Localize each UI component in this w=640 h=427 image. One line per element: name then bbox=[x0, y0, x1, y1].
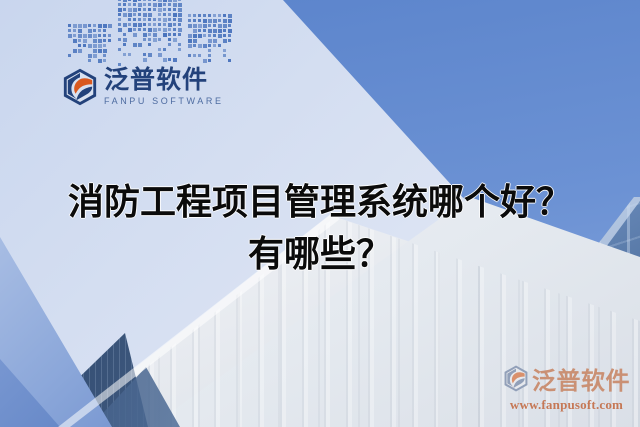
pixel-square bbox=[163, 3, 166, 6]
pixel-square bbox=[68, 34, 72, 38]
pixel-square bbox=[173, 38, 177, 42]
pixel-square bbox=[208, 29, 212, 33]
pixel-square bbox=[158, 48, 161, 51]
pixel-square bbox=[148, 3, 151, 6]
pixel-square bbox=[213, 34, 216, 37]
brand-name-en: FANPU SOFTWARE bbox=[104, 97, 224, 106]
pixel-square bbox=[133, 13, 136, 16]
pixel-square bbox=[208, 39, 212, 43]
pixel-square bbox=[213, 44, 216, 47]
pixel-square bbox=[188, 34, 192, 38]
pixel-square bbox=[78, 39, 81, 42]
pixel-square bbox=[118, 28, 122, 32]
pixel-square bbox=[198, 19, 201, 22]
pixel-square bbox=[78, 49, 82, 53]
pixel-square bbox=[73, 39, 77, 43]
pixel-square bbox=[123, 23, 127, 27]
pixel-square bbox=[168, 38, 171, 41]
pixel-square bbox=[193, 19, 196, 22]
pixel-square bbox=[163, 0, 167, 2]
pixel-square bbox=[98, 29, 101, 32]
pixel-square bbox=[163, 13, 166, 16]
pixel-square bbox=[148, 53, 152, 57]
pixel-square bbox=[103, 24, 107, 28]
pixel-square bbox=[168, 58, 171, 61]
pixel-square bbox=[138, 28, 141, 31]
pixel-square bbox=[198, 34, 202, 38]
pixel-square bbox=[93, 44, 97, 48]
pixel-square bbox=[178, 48, 181, 51]
pixel-square bbox=[73, 49, 77, 53]
pixel-square bbox=[228, 34, 231, 37]
pixel-square bbox=[168, 0, 172, 2]
pixel-square bbox=[213, 24, 216, 27]
pixel-square bbox=[73, 29, 76, 32]
pixel-square bbox=[83, 34, 87, 38]
pixel-square bbox=[118, 18, 121, 21]
pixel-square bbox=[148, 18, 151, 21]
pixel-square bbox=[123, 53, 126, 56]
brand-name-cn: 泛普软件 bbox=[104, 68, 224, 93]
pixel-square bbox=[178, 18, 182, 22]
pixel-square bbox=[228, 29, 232, 33]
pixel-square bbox=[143, 0, 146, 1]
pixel-square bbox=[88, 29, 92, 33]
pixel-square bbox=[208, 49, 211, 52]
pixel-square bbox=[203, 29, 206, 32]
pixel-square bbox=[218, 44, 221, 47]
pixel-square bbox=[228, 19, 232, 23]
pixel-square bbox=[128, 3, 131, 6]
pixel-square bbox=[158, 8, 162, 12]
pixel-square bbox=[68, 24, 71, 27]
pixel-square bbox=[148, 23, 151, 26]
pixel-square bbox=[148, 8, 151, 11]
pixel-square bbox=[158, 28, 161, 31]
pixel-square bbox=[98, 49, 102, 53]
pixel-square bbox=[108, 24, 112, 28]
pixel-square bbox=[83, 39, 87, 43]
pixel-square bbox=[148, 33, 151, 36]
pixel-square bbox=[93, 39, 97, 43]
pixel-square bbox=[173, 18, 176, 21]
pixel-square bbox=[158, 0, 162, 2]
pixel-square bbox=[103, 54, 106, 57]
pixel-square bbox=[228, 39, 231, 42]
pixel-square bbox=[143, 28, 146, 31]
page-title-line-2: 有哪些？ bbox=[0, 228, 640, 280]
pixel-square bbox=[118, 0, 121, 1]
pixel-square bbox=[143, 8, 146, 11]
pixel-square bbox=[198, 14, 201, 17]
pixel-square bbox=[223, 54, 226, 57]
fanpu-hexagon-logo-icon bbox=[62, 68, 98, 106]
brand-logo: 泛普软件 FANPU SOFTWARE bbox=[62, 68, 224, 106]
pixel-square bbox=[218, 19, 221, 22]
pixel-square bbox=[138, 13, 141, 16]
pixel-square bbox=[208, 44, 211, 47]
pixel-square bbox=[93, 34, 97, 38]
pixel-square bbox=[153, 3, 157, 7]
pixel-building-pattern bbox=[68, 0, 198, 72]
pixel-square bbox=[143, 13, 147, 17]
pixel-square bbox=[98, 59, 102, 63]
pixel-square bbox=[98, 44, 102, 48]
pixel-square bbox=[143, 18, 146, 21]
pixel-square bbox=[123, 38, 127, 42]
pixel-square bbox=[118, 38, 121, 41]
pixel-square bbox=[123, 8, 126, 11]
pixel-square bbox=[188, 14, 191, 17]
pixel-square bbox=[223, 24, 227, 28]
pixel-square bbox=[148, 13, 152, 17]
pixel-square bbox=[98, 39, 102, 43]
watermark-url: www.fanpusoft.com bbox=[510, 397, 623, 413]
pixel-square bbox=[213, 39, 217, 43]
pixel-square bbox=[83, 44, 86, 47]
pixel-square bbox=[88, 44, 92, 48]
pixel-square bbox=[198, 44, 202, 48]
pixel-square bbox=[168, 18, 171, 21]
pixel-square bbox=[173, 23, 176, 26]
pixel-square bbox=[133, 43, 137, 47]
pixel-square bbox=[218, 14, 221, 17]
pixel-square bbox=[128, 8, 132, 12]
pixel-square bbox=[188, 19, 191, 22]
pixel-square bbox=[223, 34, 226, 37]
pixel-square bbox=[228, 24, 231, 27]
promo-banner: 泛普软件 FANPU SOFTWARE 消防工程项目管理系统哪个好？ 有哪些？ … bbox=[0, 0, 640, 427]
pixel-square bbox=[168, 3, 171, 6]
pixel-square bbox=[208, 59, 211, 62]
pixel-square bbox=[218, 29, 222, 33]
pixel-square bbox=[88, 59, 91, 62]
pixel-square bbox=[203, 44, 207, 48]
pixel-square bbox=[223, 14, 226, 17]
pixel-square bbox=[123, 43, 126, 46]
pixel-square bbox=[108, 39, 111, 42]
pixel-square bbox=[208, 54, 211, 57]
pixel-square bbox=[213, 14, 216, 17]
pixel-square bbox=[128, 53, 131, 56]
pixel-square bbox=[228, 14, 232, 18]
pixel-square bbox=[93, 29, 96, 32]
pixel-square bbox=[153, 0, 156, 1]
pixel-square bbox=[223, 19, 227, 23]
pixel-square bbox=[73, 34, 76, 37]
pixel-square bbox=[148, 28, 152, 32]
pixel-square bbox=[203, 19, 207, 23]
pixel-square bbox=[163, 28, 167, 32]
pixel-square bbox=[178, 23, 181, 26]
pixel-square bbox=[138, 0, 141, 1]
pixel-square bbox=[78, 24, 82, 28]
pixel-square bbox=[133, 33, 137, 37]
pixel-square bbox=[143, 53, 146, 56]
pixel-square bbox=[223, 29, 226, 32]
pixel-square bbox=[148, 38, 151, 41]
pixel-square bbox=[158, 53, 162, 57]
pixel-square bbox=[153, 33, 157, 37]
pixel-square bbox=[163, 33, 167, 37]
pixel-square bbox=[208, 24, 211, 27]
pixel-square bbox=[88, 24, 91, 27]
pixel-square bbox=[193, 14, 196, 17]
pixel-square bbox=[173, 13, 177, 17]
pixel-square bbox=[168, 23, 172, 27]
pixel-square bbox=[138, 3, 142, 7]
pixel-square bbox=[78, 44, 81, 47]
pixel-square bbox=[98, 24, 102, 28]
pixel-square bbox=[173, 0, 177, 2]
pixel-square bbox=[178, 8, 182, 12]
pixel-square bbox=[138, 23, 142, 27]
pixel-square bbox=[143, 33, 147, 37]
pixel-square bbox=[88, 54, 92, 58]
pixel-square bbox=[133, 8, 137, 12]
pixel-square bbox=[148, 0, 151, 1]
pixel-square bbox=[118, 13, 121, 16]
pixel-square bbox=[103, 44, 106, 47]
pixel-square bbox=[128, 28, 132, 32]
pixel-square bbox=[168, 13, 171, 16]
pixel-square bbox=[168, 8, 171, 11]
pixel-square bbox=[158, 3, 162, 7]
pixel-square bbox=[158, 13, 161, 16]
pixel-square bbox=[223, 49, 226, 52]
pixel-square bbox=[193, 39, 197, 43]
pixel-square bbox=[178, 3, 182, 7]
pixel-square bbox=[153, 38, 157, 42]
pixel-square bbox=[188, 39, 192, 43]
pixel-square bbox=[163, 18, 167, 22]
pixel-square bbox=[138, 43, 142, 47]
pixel-square bbox=[118, 23, 121, 26]
pixel-square bbox=[173, 33, 176, 36]
pixel-square bbox=[193, 44, 196, 47]
pixel-square bbox=[78, 29, 82, 33]
pixel-square bbox=[178, 43, 181, 46]
pixel-square bbox=[103, 59, 106, 62]
pixel-square bbox=[178, 13, 182, 17]
pixel-square bbox=[208, 19, 212, 23]
pixel-square bbox=[168, 43, 171, 46]
watermark-brand-cn: 泛普软件 bbox=[532, 361, 630, 396]
pixel-square bbox=[148, 43, 151, 46]
pixel-square bbox=[173, 28, 176, 31]
pixel-square bbox=[193, 24, 197, 28]
pixel-square bbox=[223, 39, 227, 43]
pixel-square bbox=[213, 29, 217, 33]
page-title: 消防工程项目管理系统哪个好？ 有哪些？ bbox=[0, 176, 640, 280]
pixel-square bbox=[218, 34, 222, 38]
pixel-square bbox=[68, 29, 71, 32]
pixel-square bbox=[173, 8, 176, 11]
pixel-square bbox=[128, 13, 132, 17]
pixel-square bbox=[203, 59, 207, 63]
pixel-square bbox=[103, 49, 107, 53]
pixel-square bbox=[168, 33, 171, 36]
pixel-square bbox=[208, 14, 211, 17]
pixel-square bbox=[153, 8, 156, 11]
pixel-square bbox=[188, 24, 192, 28]
pixel-square bbox=[178, 0, 181, 1]
pixel-square bbox=[98, 34, 101, 37]
pixel-square bbox=[193, 54, 196, 57]
pixel-square bbox=[168, 28, 171, 31]
pixel-square bbox=[158, 18, 161, 21]
pixel-square bbox=[103, 34, 106, 37]
pixel-square bbox=[78, 34, 82, 38]
pixel-square bbox=[218, 24, 222, 28]
pixel-square bbox=[118, 3, 121, 6]
pixel-square bbox=[198, 54, 201, 57]
pixel-square bbox=[123, 33, 126, 36]
pixel-square bbox=[123, 3, 126, 6]
pixel-square bbox=[173, 3, 177, 7]
pixel-square bbox=[138, 18, 141, 21]
pixel-square bbox=[143, 23, 146, 26]
pixel-square bbox=[103, 39, 106, 42]
pixel-square bbox=[128, 23, 131, 26]
pixel-square bbox=[103, 29, 106, 32]
pixel-square bbox=[123, 0, 127, 2]
pixel-square bbox=[193, 34, 197, 38]
pixel-square bbox=[128, 18, 131, 21]
pixel-square bbox=[188, 44, 192, 48]
pixel-square bbox=[158, 23, 161, 26]
pixel-square bbox=[133, 18, 136, 21]
pixel-square bbox=[128, 0, 131, 1]
pixel-square bbox=[158, 38, 161, 41]
pixel-square bbox=[83, 24, 87, 28]
pixel-square bbox=[213, 19, 217, 23]
pixel-square bbox=[133, 3, 136, 6]
pixel-square bbox=[178, 28, 182, 32]
pixel-square bbox=[163, 8, 166, 11]
pixel-square bbox=[133, 23, 137, 27]
pixel-square bbox=[228, 59, 231, 62]
pixel-square bbox=[123, 13, 127, 17]
pixel-square bbox=[143, 58, 147, 62]
brand-logo-text: 泛普软件 FANPU SOFTWARE bbox=[104, 68, 224, 106]
pixel-square bbox=[93, 49, 97, 53]
pixel-square bbox=[73, 24, 77, 28]
page-title-line-1: 消防工程项目管理系统哪个好？ bbox=[0, 176, 640, 228]
pixel-square bbox=[93, 24, 96, 27]
watermark-row: 泛普软件 bbox=[503, 361, 630, 396]
pixel-square bbox=[163, 23, 166, 26]
pixel-square bbox=[118, 8, 122, 12]
pixel-square bbox=[133, 28, 136, 31]
pixel-square bbox=[153, 23, 156, 26]
watermark: 泛普软件 www.fanpusoft.com bbox=[503, 361, 630, 413]
pixel-square bbox=[178, 33, 181, 36]
pixel-square bbox=[133, 0, 137, 2]
fanpu-hexagon-watermark-icon bbox=[503, 365, 529, 392]
pixel-square bbox=[203, 34, 206, 37]
pixel-square bbox=[163, 48, 166, 51]
pixel-square bbox=[143, 3, 146, 6]
pixel-square bbox=[208, 34, 211, 37]
pixel-square bbox=[153, 28, 157, 32]
pixel-square bbox=[203, 14, 206, 17]
pixel-square bbox=[198, 29, 201, 32]
pixel-square bbox=[188, 54, 191, 57]
pixel-square bbox=[163, 58, 167, 62]
pixel-square bbox=[193, 29, 197, 33]
pixel-square bbox=[68, 54, 71, 57]
pixel-square bbox=[138, 8, 141, 11]
pixel-square bbox=[173, 58, 177, 62]
pixel-square bbox=[88, 34, 92, 38]
pixel-square bbox=[93, 54, 97, 58]
pixel-square bbox=[153, 18, 156, 21]
pixel-square bbox=[203, 24, 207, 28]
pixel-square bbox=[198, 24, 202, 28]
pixel-square bbox=[108, 34, 111, 37]
pixel-square bbox=[143, 38, 146, 41]
pixel-square bbox=[118, 48, 121, 51]
